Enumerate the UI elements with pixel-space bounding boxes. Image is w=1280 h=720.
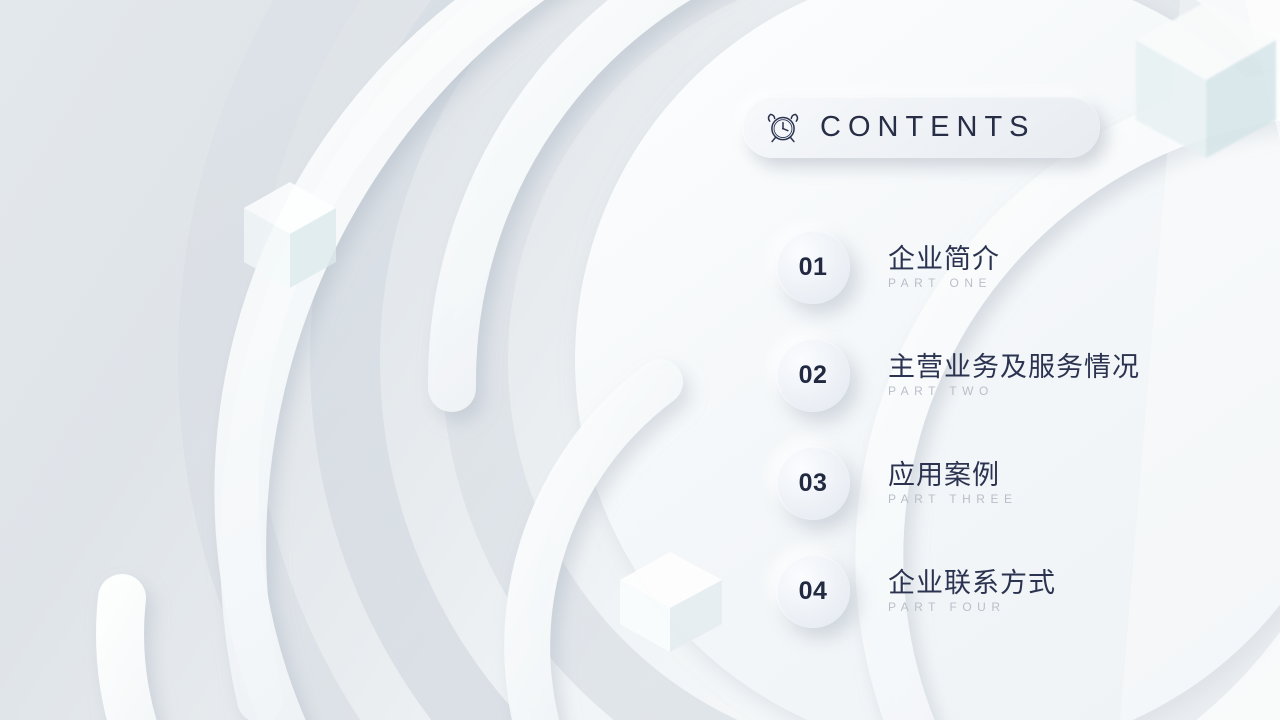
slide-canvas: CONTENTS 01 企业简介 PART ONE 02 主营业务及服务情况 P…	[0, 0, 1280, 720]
toc-subtitle-04: PART FOUR	[888, 600, 1056, 614]
toc-text-block-01: 企业简介 PART ONE	[888, 244, 1000, 290]
alarm-clock-icon	[764, 108, 802, 146]
toc-title-04: 企业联系方式	[888, 568, 1056, 598]
toc-subtitle-02: PART TWO	[888, 384, 1140, 398]
toc-title-03: 应用案例	[888, 460, 1017, 490]
toc-number-02: 02	[799, 361, 828, 390]
toc-number-badge-02[interactable]: 02	[776, 338, 850, 412]
page-title: CONTENTS	[820, 111, 1036, 144]
toc-subtitle-01: PART ONE	[888, 276, 1000, 290]
toc-item-02[interactable]: 02 主营业务及服务情况 PART TWO	[738, 335, 1280, 415]
contents-title-pill: CONTENTS	[742, 96, 1100, 158]
toc-subtitle-03: PART THREE	[888, 492, 1017, 506]
toc-number-badge-04[interactable]: 04	[776, 554, 850, 628]
toc-item-03[interactable]: 03 应用案例 PART THREE	[738, 443, 1280, 523]
contents-panel: CONTENTS 01 企业简介 PART ONE 02 主营业务及服务情况 P…	[738, 0, 1280, 720]
toc-item-04[interactable]: 04 企业联系方式 PART FOUR	[738, 551, 1280, 631]
toc-number-01: 01	[799, 253, 828, 282]
toc-text-block-02: 主营业务及服务情况 PART TWO	[888, 352, 1140, 398]
toc-text-block-04: 企业联系方式 PART FOUR	[888, 568, 1056, 614]
toc-text-block-03: 应用案例 PART THREE	[888, 460, 1017, 506]
toc-number-badge-01[interactable]: 01	[776, 230, 850, 304]
toc-number-badge-03[interactable]: 03	[776, 446, 850, 520]
toc-number-03: 03	[799, 469, 828, 498]
toc-title-01: 企业简介	[888, 244, 1000, 274]
toc-item-01[interactable]: 01 企业简介 PART ONE	[738, 227, 1280, 307]
toc-title-02: 主营业务及服务情况	[888, 352, 1140, 382]
toc-number-04: 04	[799, 577, 828, 606]
